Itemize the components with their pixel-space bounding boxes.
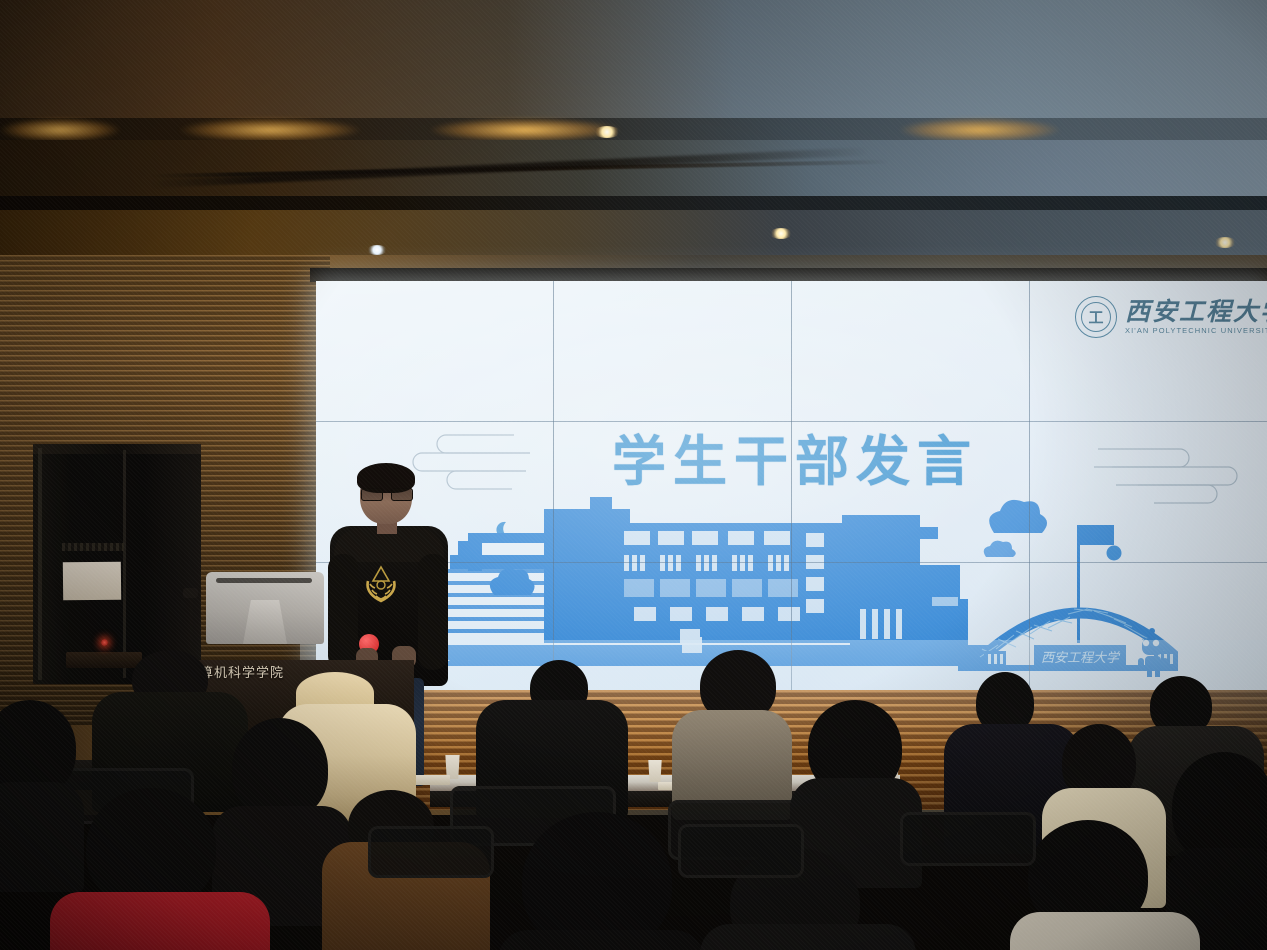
audience-torso bbox=[498, 930, 704, 950]
ceiling-slat-band-upper bbox=[0, 0, 1267, 118]
presenter-arm-right bbox=[418, 554, 448, 670]
ceiling-cove-glow bbox=[430, 118, 620, 142]
downlight-icon bbox=[367, 245, 387, 255]
video-wall-screen[interactable]: 西安工程大学 bbox=[316, 281, 1267, 703]
microphone-stand bbox=[190, 596, 193, 644]
video-wall-bezel-seam bbox=[791, 281, 792, 703]
audience-person-red-jacket bbox=[40, 800, 270, 950]
audience-torso bbox=[50, 892, 270, 950]
video-wall-bezel-seam bbox=[316, 562, 1267, 563]
audience-person-bottom-center bbox=[498, 812, 698, 950]
audience-head bbox=[86, 788, 216, 908]
rack-paper-note bbox=[63, 562, 121, 601]
ceiling-cove-glow bbox=[900, 118, 1060, 142]
downlight-icon bbox=[770, 228, 792, 239]
ceiling-cove-glow bbox=[180, 118, 360, 142]
presenter-arm-left bbox=[328, 554, 358, 670]
ceiling bbox=[0, 0, 1267, 270]
screen-top-trim bbox=[310, 268, 1267, 282]
glasses-icon bbox=[361, 488, 411, 499]
chair-back bbox=[678, 824, 804, 878]
paper-cup bbox=[647, 760, 663, 782]
microphone-stand-head-icon bbox=[183, 588, 198, 598]
downlight-icon bbox=[1214, 237, 1236, 248]
chair-back bbox=[900, 812, 1036, 866]
rack-patch-panel bbox=[62, 543, 124, 551]
lecture-hall-photo: 西安工程大学 bbox=[0, 0, 1267, 950]
rack-top-panel bbox=[33, 444, 201, 454]
video-wall-bezel-seam bbox=[553, 281, 554, 703]
computer-vent bbox=[216, 578, 312, 583]
video-wall-bezel-seam bbox=[1029, 281, 1030, 703]
ceiling-cove-glow bbox=[0, 118, 120, 142]
rack-edge bbox=[38, 448, 42, 680]
audience-torso bbox=[700, 924, 916, 950]
audience-person-bottom-far-right bbox=[1010, 820, 1190, 950]
sweatshirt-laurel-emblem bbox=[358, 561, 404, 607]
audience-torso bbox=[1010, 912, 1200, 950]
rack-door-edge bbox=[123, 450, 126, 678]
chair-back bbox=[368, 826, 494, 878]
video-wall-bezel-seam bbox=[316, 421, 1267, 422]
power-led-icon bbox=[101, 639, 108, 646]
downlight-icon bbox=[594, 126, 620, 138]
audience-person-patterned-jacket bbox=[672, 650, 792, 808]
